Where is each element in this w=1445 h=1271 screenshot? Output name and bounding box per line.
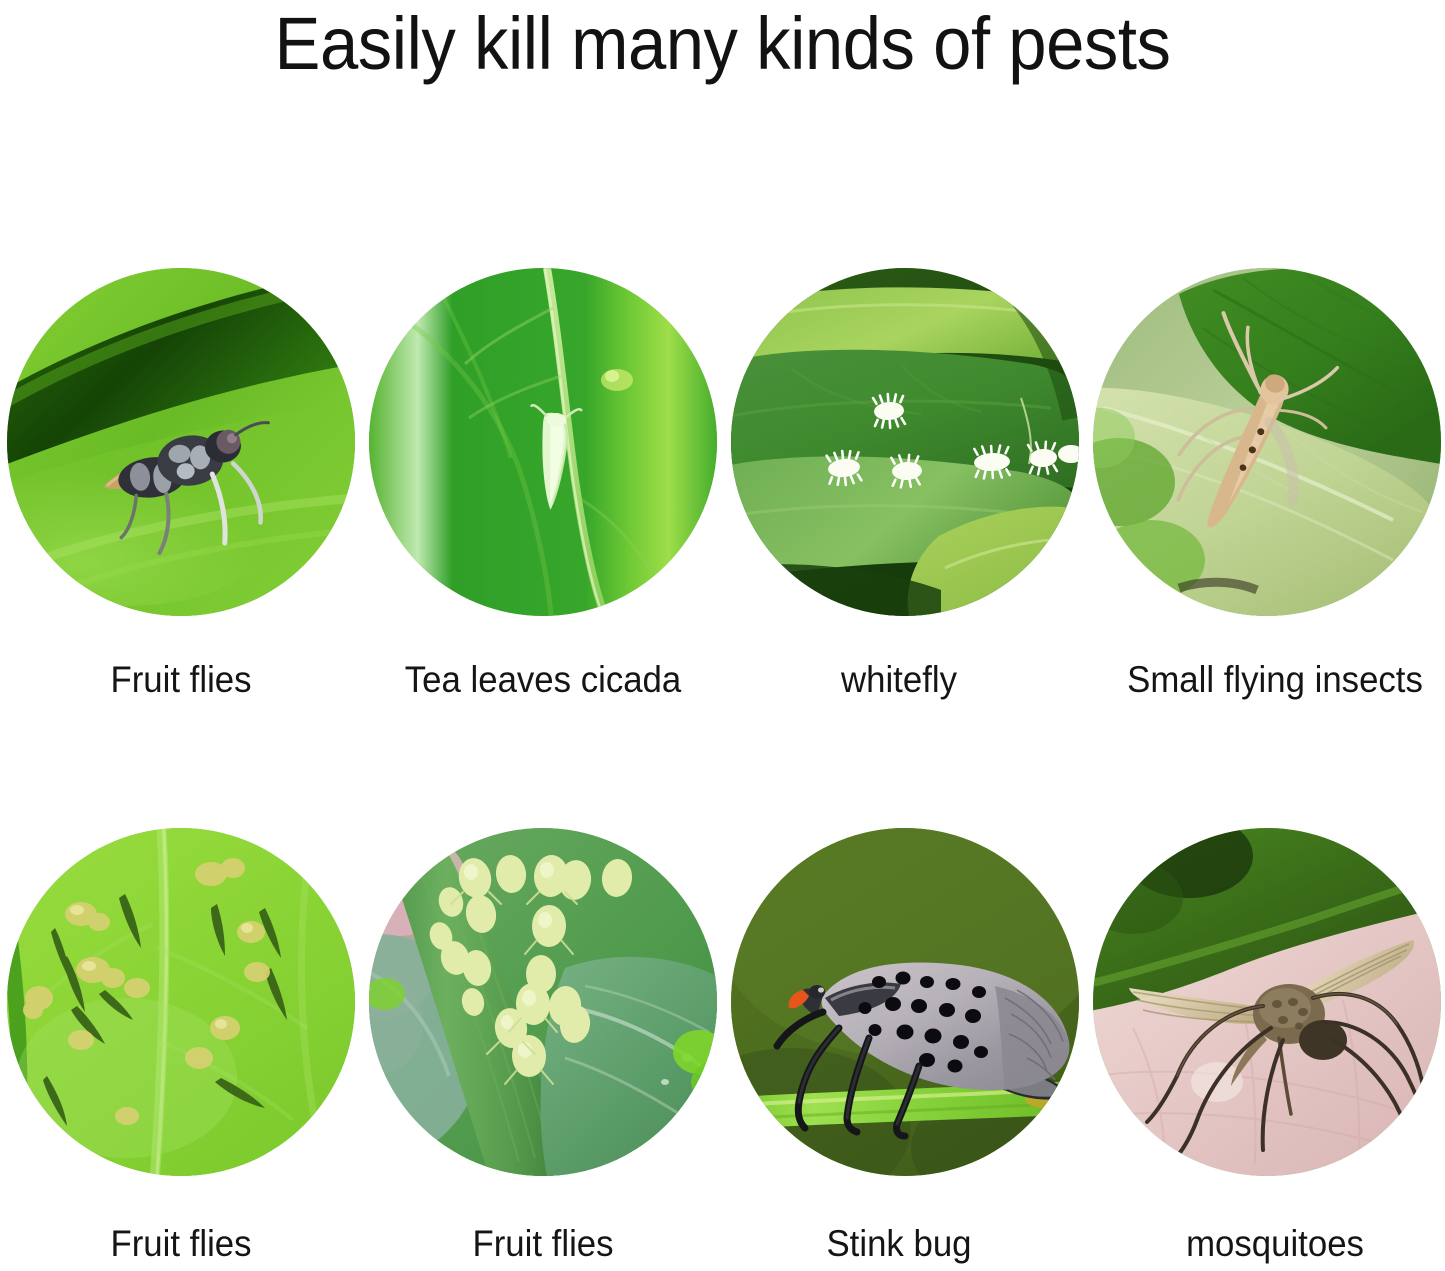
pest-label: whitefly [729,658,1069,702]
pest-label: Fruit flies [11,1222,351,1266]
pest-thumbnail-fruit-flies-2[interactable] [7,828,355,1176]
pest-cell-mosquitoes[interactable]: mosquitoes [1086,828,1445,1266]
pest-cell-tea-leaves-cicada[interactable]: Tea leaves cicada [362,268,724,702]
pest-thumbnail-small-flying-insects[interactable] [1093,268,1441,616]
pest-cell-small-flying-insects[interactable]: Small flying insects [1086,268,1445,702]
pest-cell-whitefly[interactable]: whitefly [724,268,1086,702]
pest-cell-fruit-flies-3[interactable]: Fruit flies [362,828,724,1266]
pest-thumbnail-mosquitoes[interactable] [1093,828,1441,1176]
pest-thumbnail-fruit-flies-3[interactable] [369,828,717,1176]
pest-label: mosquitoes [1105,1222,1445,1266]
pest-infographic-page: Easily kill many kinds of pests [0,0,1445,1271]
pest-label: Small flying insects [1105,658,1445,702]
pest-label: Fruit flies [373,1222,713,1266]
pest-label: Fruit flies [11,658,351,702]
pest-thumbnail-fruit-flies-1[interactable] [7,268,355,616]
pest-cell-stink-bug[interactable]: Stink bug [724,828,1086,1266]
pest-cell-fruit-flies-2[interactable]: Fruit flies [0,828,362,1266]
pest-thumbnail-stink-bug[interactable] [731,828,1079,1176]
pest-thumbnail-tea-leaves-cicada[interactable] [369,268,717,616]
pest-thumbnail-whitefly[interactable] [731,268,1079,616]
pest-cell-fruit-flies-1[interactable]: Fruit flies [0,268,362,702]
pest-grid: Fruit flies [0,0,1445,1271]
pest-label: Stink bug [729,1222,1069,1266]
pest-label: Tea leaves cicada [373,658,713,702]
